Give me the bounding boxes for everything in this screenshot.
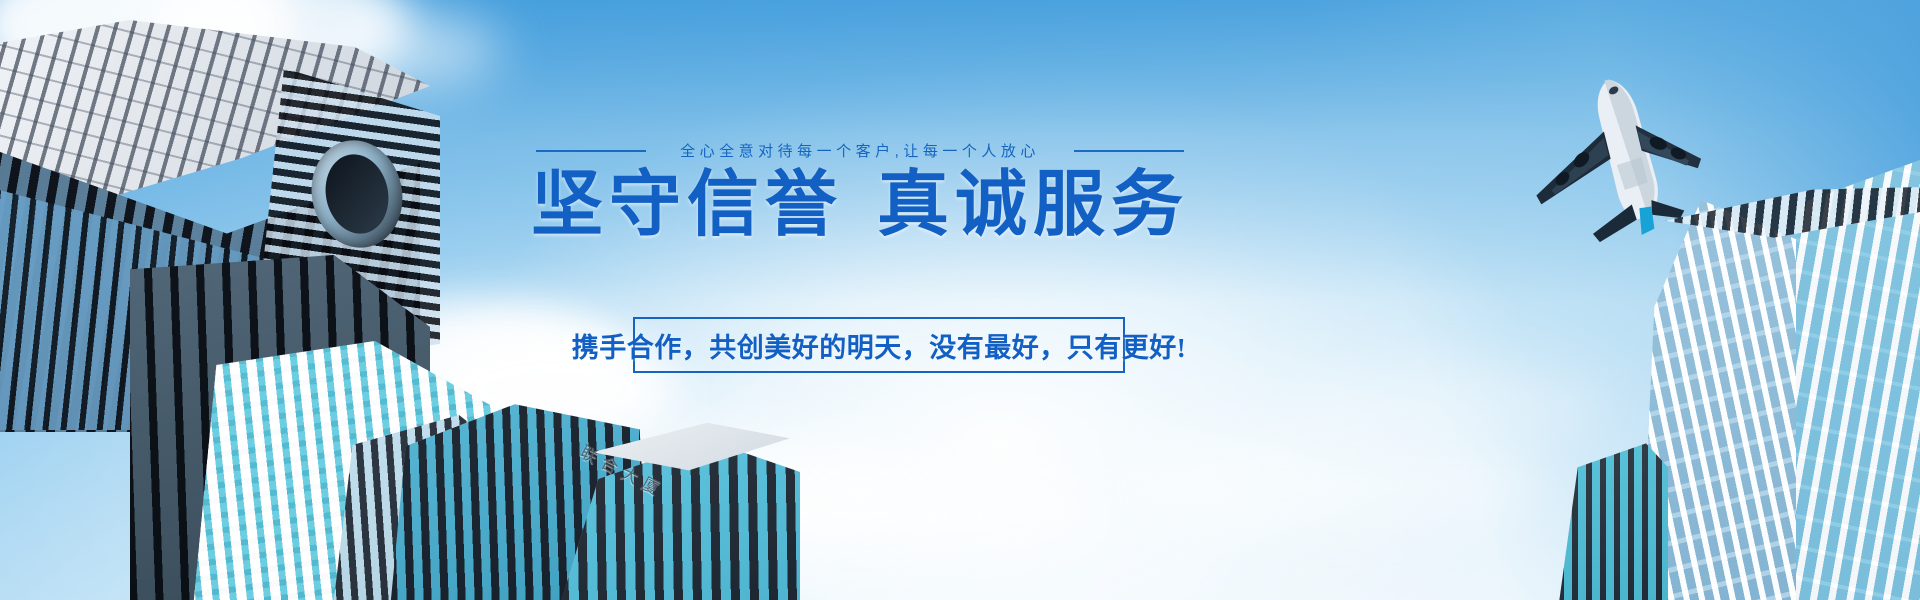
eyebrow-row: 全心全意对待每一个客户,让每一个人放心 [0, 140, 1820, 161]
eyebrow-rule-right [1074, 150, 1184, 152]
headline-part-2: 真诚服务 [877, 165, 1189, 245]
subtitle-box: 携手合作，共创美好的明天，没有最好，只有更好! [633, 317, 1125, 373]
hero-banner: 联合大厦 [0, 0, 1920, 600]
headline-part-1: 坚守信誉 [531, 165, 843, 245]
subtitle-text: 携手合作，共创美好的明天，没有最好，只有更好! [572, 326, 1187, 365]
banner-copy: 全心全意对待每一个客户,让每一个人放心 坚守信誉真诚服务 携手合作，共创美好的明… [0, 0, 1920, 600]
headline: 坚守信誉真诚服务 [0, 168, 1820, 244]
eyebrow-rule-left [536, 150, 646, 152]
eyebrow-text: 全心全意对待每一个客户,让每一个人放心 [680, 140, 1040, 161]
